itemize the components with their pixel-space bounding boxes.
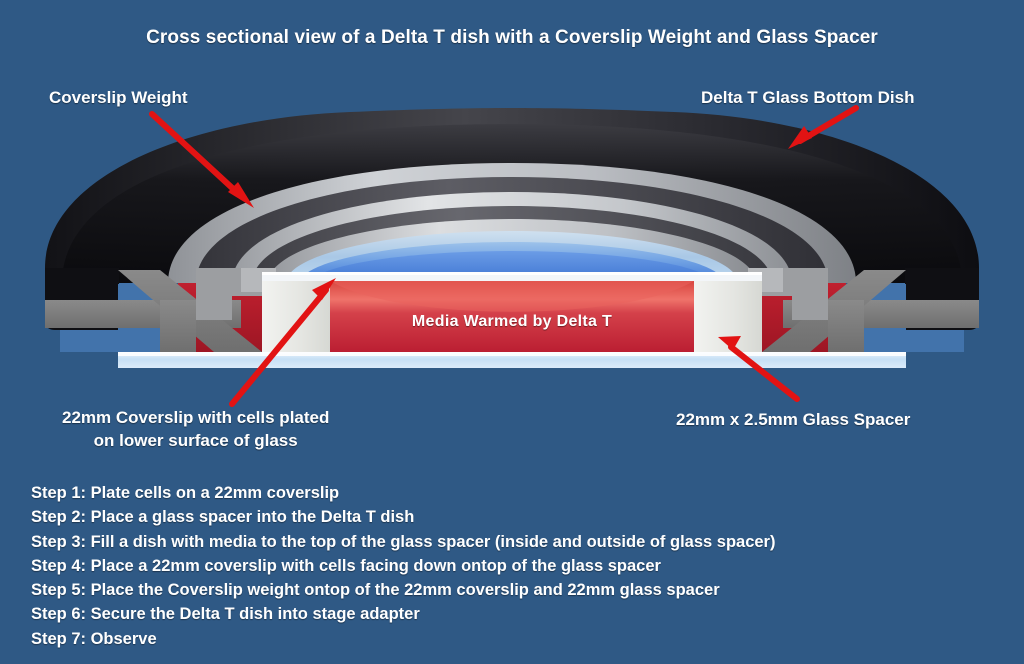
protocol-steps-list: Step 1: Plate cells on a 22mm coverslipS… xyxy=(31,481,991,651)
label-coverslip-with-cells-line1: 22mm Coverslip with cells plated xyxy=(62,408,329,427)
protocol-step-4: Step 4: Place a 22mm coverslip with cell… xyxy=(31,554,991,578)
label-glass-spacer: 22mm x 2.5mm Glass Spacer xyxy=(676,410,910,430)
label-delta-t-glass-bottom-dish: Delta T Glass Bottom Dish xyxy=(701,88,914,108)
protocol-step-6: Step 6: Secure the Delta T dish into sta… xyxy=(31,602,991,626)
protocol-step-1: Step 1: Plate cells on a 22mm coverslip xyxy=(31,481,991,505)
coverslip-strip xyxy=(262,272,762,281)
label-coverslip-with-cells: 22mm Coverslip with cells platedon lower… xyxy=(62,406,329,452)
protocol-step-7: Step 7: Observe xyxy=(31,627,991,651)
protocol-step-3: Step 3: Fill a dish with media to the to… xyxy=(31,530,991,554)
label-coverslip-with-cells-line2: on lower surface of glass xyxy=(94,431,298,450)
diagram-canvas: Cross sectional view of a Delta T dish w… xyxy=(0,0,1024,664)
page-title: Cross sectional view of a Delta T dish w… xyxy=(0,27,1024,49)
glass-bottom-slab xyxy=(118,352,906,368)
protocol-step-5: Step 5: Place the Coverslip weight ontop… xyxy=(31,578,991,602)
protocol-step-2: Step 2: Place a glass spacer into the De… xyxy=(31,505,991,529)
label-media-warmed: Media Warmed by Delta T xyxy=(0,313,1024,331)
label-coverslip-weight: Coverslip Weight xyxy=(49,88,188,108)
